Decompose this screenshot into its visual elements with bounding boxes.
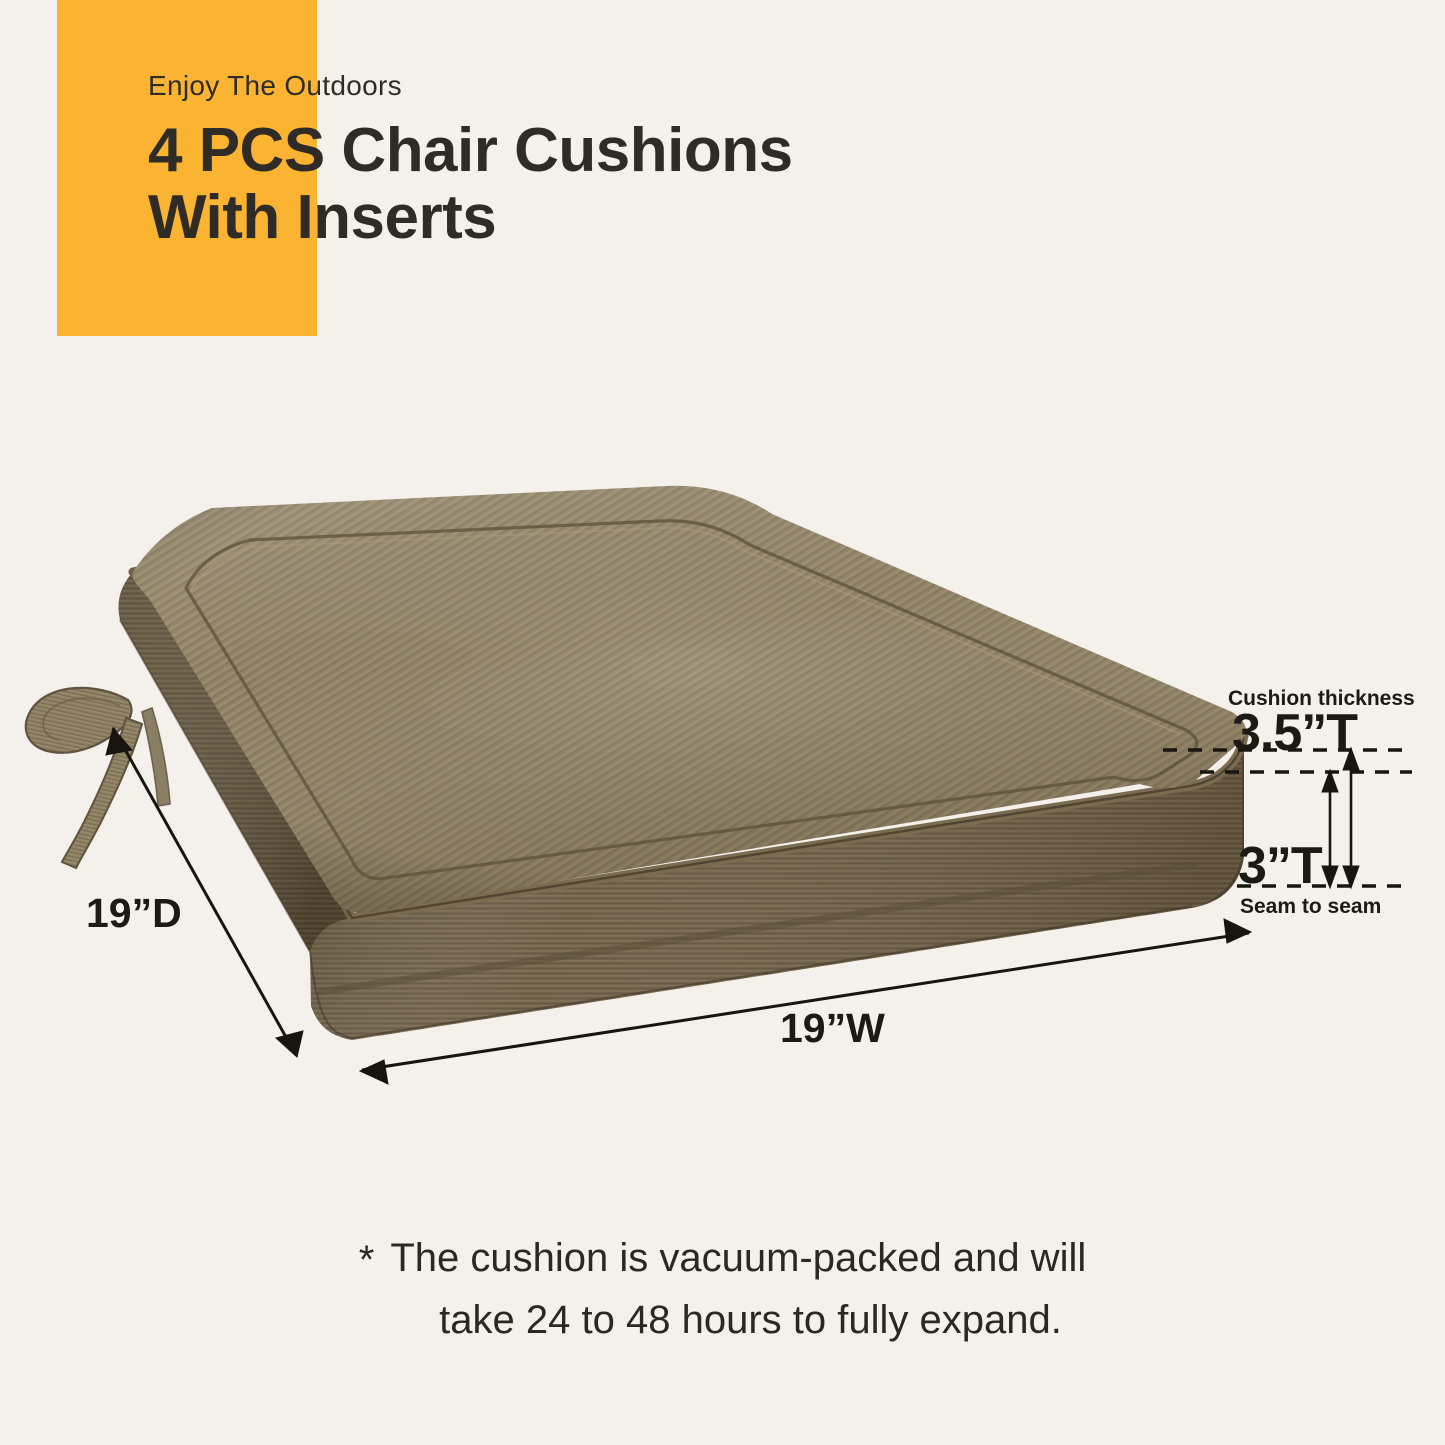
page-title-line1: 4 PCS Chair Cushions [148, 118, 1048, 185]
footnote-line2: take 24 to 48 hours to fully expand. [0, 1290, 1445, 1350]
cushion-thickness-arrow [1343, 748, 1359, 888]
header-text-group: Enjoy The Outdoors 4 PCS Chair Cushions … [148, 72, 1048, 252]
seam-thickness-value: 3”T [1238, 840, 1322, 892]
footnote-line1: The cushion is vacuum-packed and will [390, 1236, 1086, 1280]
eyebrow-text: Enjoy The Outdoors [148, 72, 1048, 100]
product-infographic: Enjoy The Outdoors 4 PCS Chair Cushions … [0, 0, 1445, 1445]
seam-thickness-arrow [1322, 770, 1338, 888]
asterisk-icon: * [359, 1230, 375, 1290]
depth-dimension-label: 19”D [86, 893, 182, 934]
cushion-tie-straps [26, 688, 170, 868]
cushion-thickness-value: 3.5”T [1232, 707, 1357, 759]
page-title-line2: With Inserts [148, 185, 1048, 252]
width-dimension-label: 19”W [780, 1008, 885, 1049]
seam-to-seam-caption: Seam to seam [1240, 896, 1381, 917]
footnote: *The cushion is vacuum-packed and will t… [0, 1228, 1445, 1350]
